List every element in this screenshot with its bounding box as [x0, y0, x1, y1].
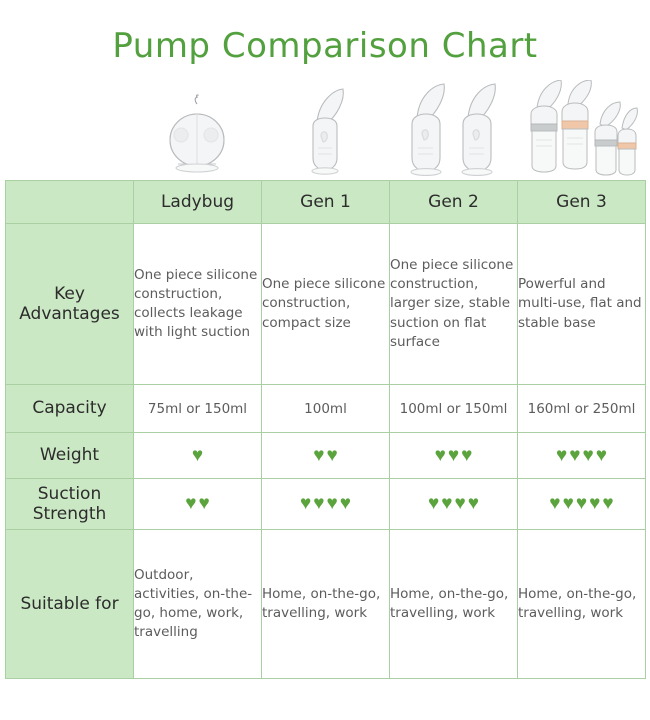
- row-label-key-advantages: Key Advantages: [6, 224, 134, 385]
- gen1-pump-glyph: [295, 86, 355, 178]
- heart-icon: ♥: [468, 494, 479, 513]
- column-header-ladybug: Ladybug: [134, 181, 262, 224]
- heart-icon: ♥: [602, 494, 613, 513]
- cell-weight-gen1: ♥♥: [262, 433, 390, 479]
- pump-comparison-page: Pump Comparison Chart: [0, 0, 650, 720]
- cell-capacity-gen1: 100ml: [262, 385, 390, 433]
- heart-icon: ♥: [340, 494, 351, 513]
- table-row: Weight ♥ ♥♥ ♥♥♥ ♥♥♥♥: [6, 433, 646, 479]
- gen1-pump-image: [261, 78, 389, 178]
- cell-key-advantages-gen3: Powerful and multi-use, flat and stable …: [518, 224, 646, 385]
- heart-icon: ♥: [199, 494, 210, 513]
- heart-icon: ♥: [596, 446, 607, 465]
- cell-weight-ladybug: ♥: [134, 433, 262, 479]
- table-row: Key Advantages One piece silicone constr…: [6, 224, 646, 385]
- heart-icon: ♥: [563, 494, 574, 513]
- row-label-suction-strength: Suction Strength: [6, 479, 134, 530]
- ladybug-pump-image: [133, 78, 261, 178]
- gen2-pump-glyph: [399, 82, 507, 178]
- heart-icon: ♥: [300, 494, 311, 513]
- table-header-row: Ladybug Gen 1 Gen 2 Gen 3: [6, 181, 646, 224]
- row-label-weight: Weight: [6, 433, 134, 479]
- heart-icon: ♥: [185, 494, 196, 513]
- cell-capacity-ladybug: 75ml or 150ml: [134, 385, 262, 433]
- heart-icon: ♥: [583, 446, 594, 465]
- column-header-gen3: Gen 3: [518, 181, 646, 224]
- comparison-table: Ladybug Gen 1 Gen 2 Gen 3 Key Advantages…: [5, 180, 646, 679]
- gen2-pump-image: [389, 78, 517, 178]
- cell-weight-gen2: ♥♥♥: [390, 433, 518, 479]
- heart-icon: ♥: [569, 446, 580, 465]
- row-label-capacity: Capacity: [6, 385, 134, 433]
- cell-key-advantages-gen2: One piece silicone construction, larger …: [390, 224, 518, 385]
- column-header-gen1: Gen 1: [262, 181, 390, 224]
- heart-icon: ♥: [455, 494, 466, 513]
- ladybug-pump-glyph: [161, 90, 233, 178]
- cell-suction-gen1: ♥♥♥♥: [262, 479, 390, 530]
- cell-suction-gen3: ♥♥♥♥♥: [518, 479, 646, 530]
- cell-capacity-gen3: 160ml or 250ml: [518, 385, 646, 433]
- heart-icon: ♥: [327, 494, 338, 513]
- heart-icon: ♥: [589, 494, 600, 513]
- gen3-pump-glyph: [521, 80, 641, 178]
- heart-icon: ♥: [435, 446, 446, 465]
- cell-weight-gen3: ♥♥♥♥: [518, 433, 646, 479]
- gen3-pump-image: [517, 78, 645, 178]
- heart-icon: ♥: [576, 494, 587, 513]
- heart-icon: ♥: [441, 494, 452, 513]
- table-row: Suitable for Outdoor, activities, on-the…: [6, 530, 646, 679]
- cell-key-advantages-gen1: One piece silicone construction, compact…: [262, 224, 390, 385]
- heart-icon: ♥: [327, 446, 338, 465]
- heart-icon: ♥: [549, 494, 560, 513]
- cell-suitable-gen1: Home, on-the-go, travelling, work: [262, 530, 390, 679]
- cell-suitable-ladybug: Outdoor, activities, on-the-go, home, wo…: [134, 530, 262, 679]
- page-title: Pump Comparison Chart: [0, 26, 650, 66]
- heart-icon: ♥: [313, 446, 324, 465]
- product-image-strip: [133, 78, 645, 178]
- table-row: Suction Strength ♥♥ ♥♥♥♥ ♥♥♥♥ ♥♥♥♥♥: [6, 479, 646, 530]
- cell-capacity-gen2: 100ml or 150ml: [390, 385, 518, 433]
- cell-suction-ladybug: ♥♥: [134, 479, 262, 530]
- heart-icon: ♥: [428, 494, 439, 513]
- cell-suitable-gen3: Home, on-the-go, travelling, work: [518, 530, 646, 679]
- row-label-suitable-for: Suitable for: [6, 530, 134, 679]
- heart-icon: ♥: [192, 446, 203, 465]
- cell-suction-gen2: ♥♥♥♥: [390, 479, 518, 530]
- heart-icon: ♥: [556, 446, 567, 465]
- column-header-gen2: Gen 2: [390, 181, 518, 224]
- cell-suitable-gen2: Home, on-the-go, travelling, work: [390, 530, 518, 679]
- cell-key-advantages-ladybug: One piece silicone construction, collect…: [134, 224, 262, 385]
- table-row: Capacity 75ml or 150ml 100ml 100ml or 15…: [6, 385, 646, 433]
- heart-icon: ♥: [448, 446, 459, 465]
- heart-icon: ♥: [461, 446, 472, 465]
- heart-icon: ♥: [313, 494, 324, 513]
- header-corner-cell: [6, 181, 134, 224]
